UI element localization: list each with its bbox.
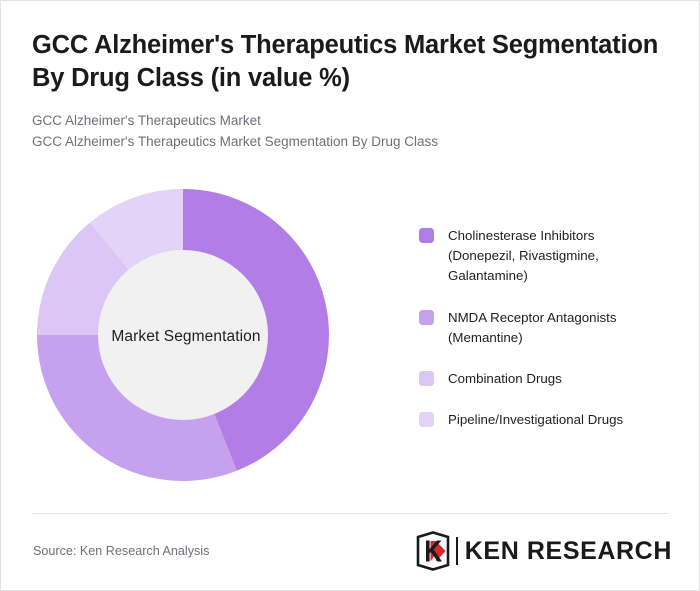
chart-title: GCC Alzheimer's Therapeutics Market Segm…: [32, 29, 662, 94]
legend-item[interactable]: Cholinesterase Inhibitors(Donepezil, Riv…: [419, 226, 681, 287]
chart-subtitle-2: GCC Alzheimer's Therapeutics Market Segm…: [32, 132, 662, 153]
chart-subtitles: GCC Alzheimer's Therapeutics Market GCC …: [32, 111, 662, 152]
donut-svg: [21, 172, 351, 502]
legend-item[interactable]: Pipeline/Investigational Drugs: [419, 410, 681, 430]
legend-item[interactable]: Combination Drugs: [419, 369, 681, 389]
chart-area: Market Segmentation Cholinesterase Inhib…: [1, 161, 700, 506]
ken-research-logo-mark-icon: [415, 531, 451, 571]
legend-item[interactable]: NMDA Receptor Antagonists(Memantine): [419, 308, 681, 348]
legend-swatch-icon: [419, 371, 434, 386]
donut-chart: Market Segmentation: [21, 172, 351, 502]
legend-item-label: NMDA Receptor Antagonists(Memantine): [448, 308, 617, 348]
legend-item-label: Pipeline/Investigational Drugs: [448, 410, 623, 430]
chart-header: GCC Alzheimer's Therapeutics Market Segm…: [32, 29, 662, 152]
legend-item-label: Combination Drugs: [448, 369, 562, 389]
chart-subtitle-1: GCC Alzheimer's Therapeutics Market: [32, 111, 662, 132]
legend-swatch-icon: [419, 228, 434, 243]
legend-swatch-icon: [419, 412, 434, 427]
chart-footer: Source: Ken Research Analysis KEN RESEAR…: [1, 514, 700, 590]
ken-research-logo-text: KEN RESEARCH: [465, 537, 672, 566]
chart-legend: Cholinesterase Inhibitors(Donepezil, Riv…: [419, 226, 681, 430]
ken-research-logo: KEN RESEARCH: [415, 531, 672, 571]
chart-card: GCC Alzheimer's Therapeutics Market Segm…: [0, 0, 700, 591]
source-note: Source: Ken Research Analysis: [33, 544, 209, 558]
legend-item-label: Cholinesterase Inhibitors(Donepezil, Riv…: [448, 226, 599, 287]
logo-separator: [456, 537, 458, 565]
legend-swatch-icon: [419, 310, 434, 325]
donut-hole: [98, 250, 268, 420]
